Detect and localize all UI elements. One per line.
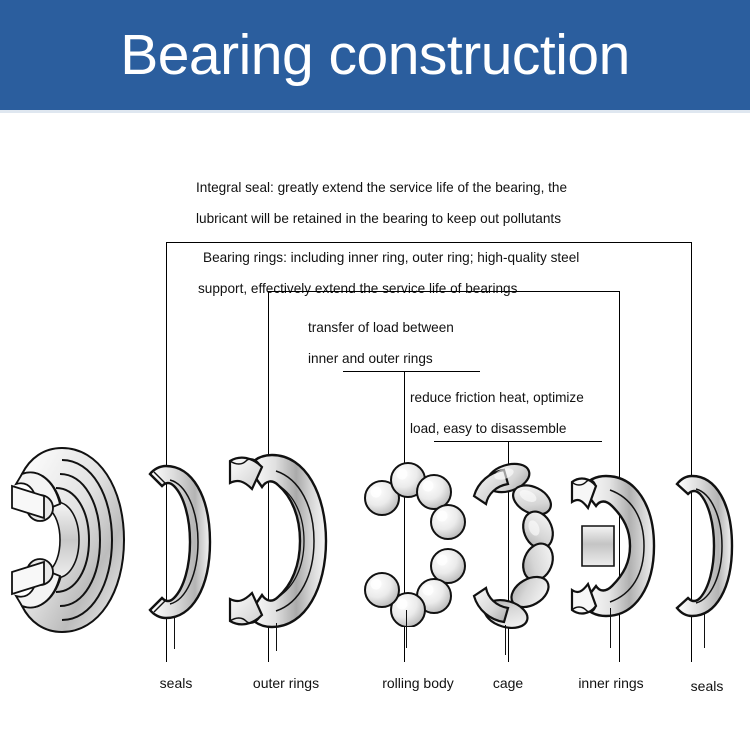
callout-bearing-rings-line1: Bearing rings: including inner ring, out…: [203, 242, 579, 273]
callout-load-transfer-line1: transfer of load between: [308, 312, 454, 343]
underline-friction-heat: [434, 441, 602, 442]
leader-outer-rings: [276, 623, 277, 651]
callout-friction-heat-line2: load, easy to disassemble: [410, 413, 566, 444]
part-illustration-outer-ring: [222, 445, 338, 637]
leader-seals-left: [174, 617, 175, 649]
bearing-construction-infographic: Bearing construction Integral seal: grea…: [0, 0, 750, 750]
part-label-rolling-body: rolling body: [382, 675, 454, 691]
part-label-seals-right: seals: [691, 678, 724, 694]
part-label-inner-rings: inner rings: [578, 675, 643, 691]
page-title: Bearing construction: [120, 27, 630, 84]
part-illustration-seal-ring-2: [666, 470, 740, 622]
leader-inner-rings: [610, 608, 611, 648]
leader-cage: [505, 625, 506, 655]
part-illustration-inner-ring: [566, 468, 662, 624]
header-divider: [0, 110, 750, 113]
leader-rolling-body: [406, 610, 407, 648]
callout-load-transfer-line2: inner and outer rings: [308, 343, 433, 374]
leader-seals-right: [704, 614, 705, 648]
part-label-outer-rings: outer rings: [253, 675, 319, 691]
part-illustration-seals-left: [4, 440, 144, 640]
callout-integral-seal-line1: Integral seal: greatly extend the servic…: [196, 172, 567, 203]
part-illustration-cage: [466, 462, 558, 630]
part-label-seals-left: seals: [160, 675, 193, 691]
part-illustration-rolling-body: [360, 462, 470, 627]
underline-load-transfer: [343, 371, 480, 372]
callout-integral-seal-line2: lubricant will be retained in the bearin…: [196, 203, 561, 234]
part-label-cage: cage: [493, 675, 523, 691]
page-header: Bearing construction: [0, 0, 750, 110]
part-illustration-seal-ring-1: [140, 460, 218, 625]
callout-friction-heat-line1: reduce friction heat, optimize: [410, 382, 584, 413]
